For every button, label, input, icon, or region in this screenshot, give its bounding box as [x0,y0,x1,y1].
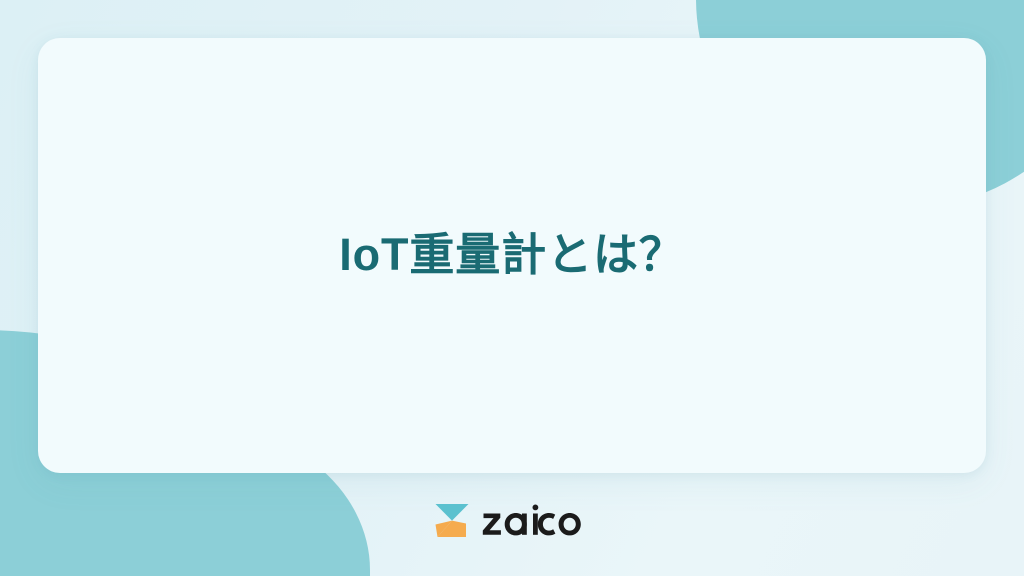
content-card: IoT重量計とは？ [38,38,986,473]
slide-title: IoT重量計とは？ [339,227,685,283]
zaico-hourglass-mark-icon [435,503,469,538]
zaico-logo [0,498,1024,542]
slide-canvas: IoT重量計とは？ [0,0,1024,576]
zaico-wordmark-text [482,504,590,537]
